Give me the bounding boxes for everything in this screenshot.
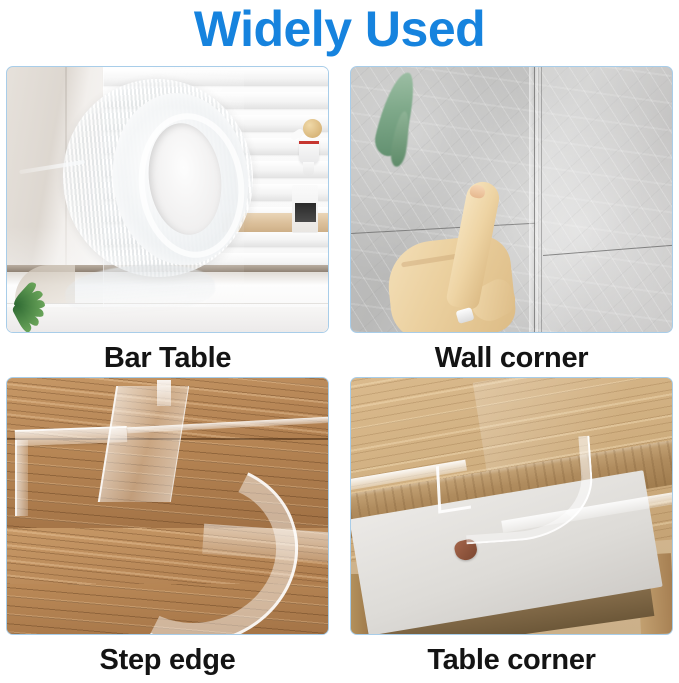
tape-roll (63, 79, 253, 284)
photo-bar-table (6, 66, 329, 333)
panel-step-edge[interactable]: Step edge (6, 377, 329, 677)
caption-table-corner: Table corner (350, 644, 673, 677)
photo-wall-corner (350, 66, 673, 333)
tape-flat-piece-fold (15, 440, 28, 516)
panel-wall-corner[interactable]: Wall corner (350, 66, 673, 375)
panel-table-corner[interactable]: Table corner (350, 377, 673, 677)
tape-strip-top-fold (157, 380, 171, 406)
page-title: Widely Used (0, 0, 679, 62)
panel-grid: Bar Table Wall corner (6, 66, 673, 678)
photo-step-edge (6, 377, 329, 635)
caption-wall-corner: Wall corner (350, 342, 673, 375)
bottle-label (295, 203, 316, 222)
hand (383, 187, 563, 333)
photo-table-corner (350, 377, 673, 635)
caption-step-edge: Step edge (6, 644, 329, 677)
panel-bar-table[interactable]: Bar Table (6, 66, 329, 375)
caption-bar-table: Bar Table (6, 342, 329, 375)
edge-tape-notch (436, 461, 471, 513)
potted-plant (6, 285, 67, 333)
